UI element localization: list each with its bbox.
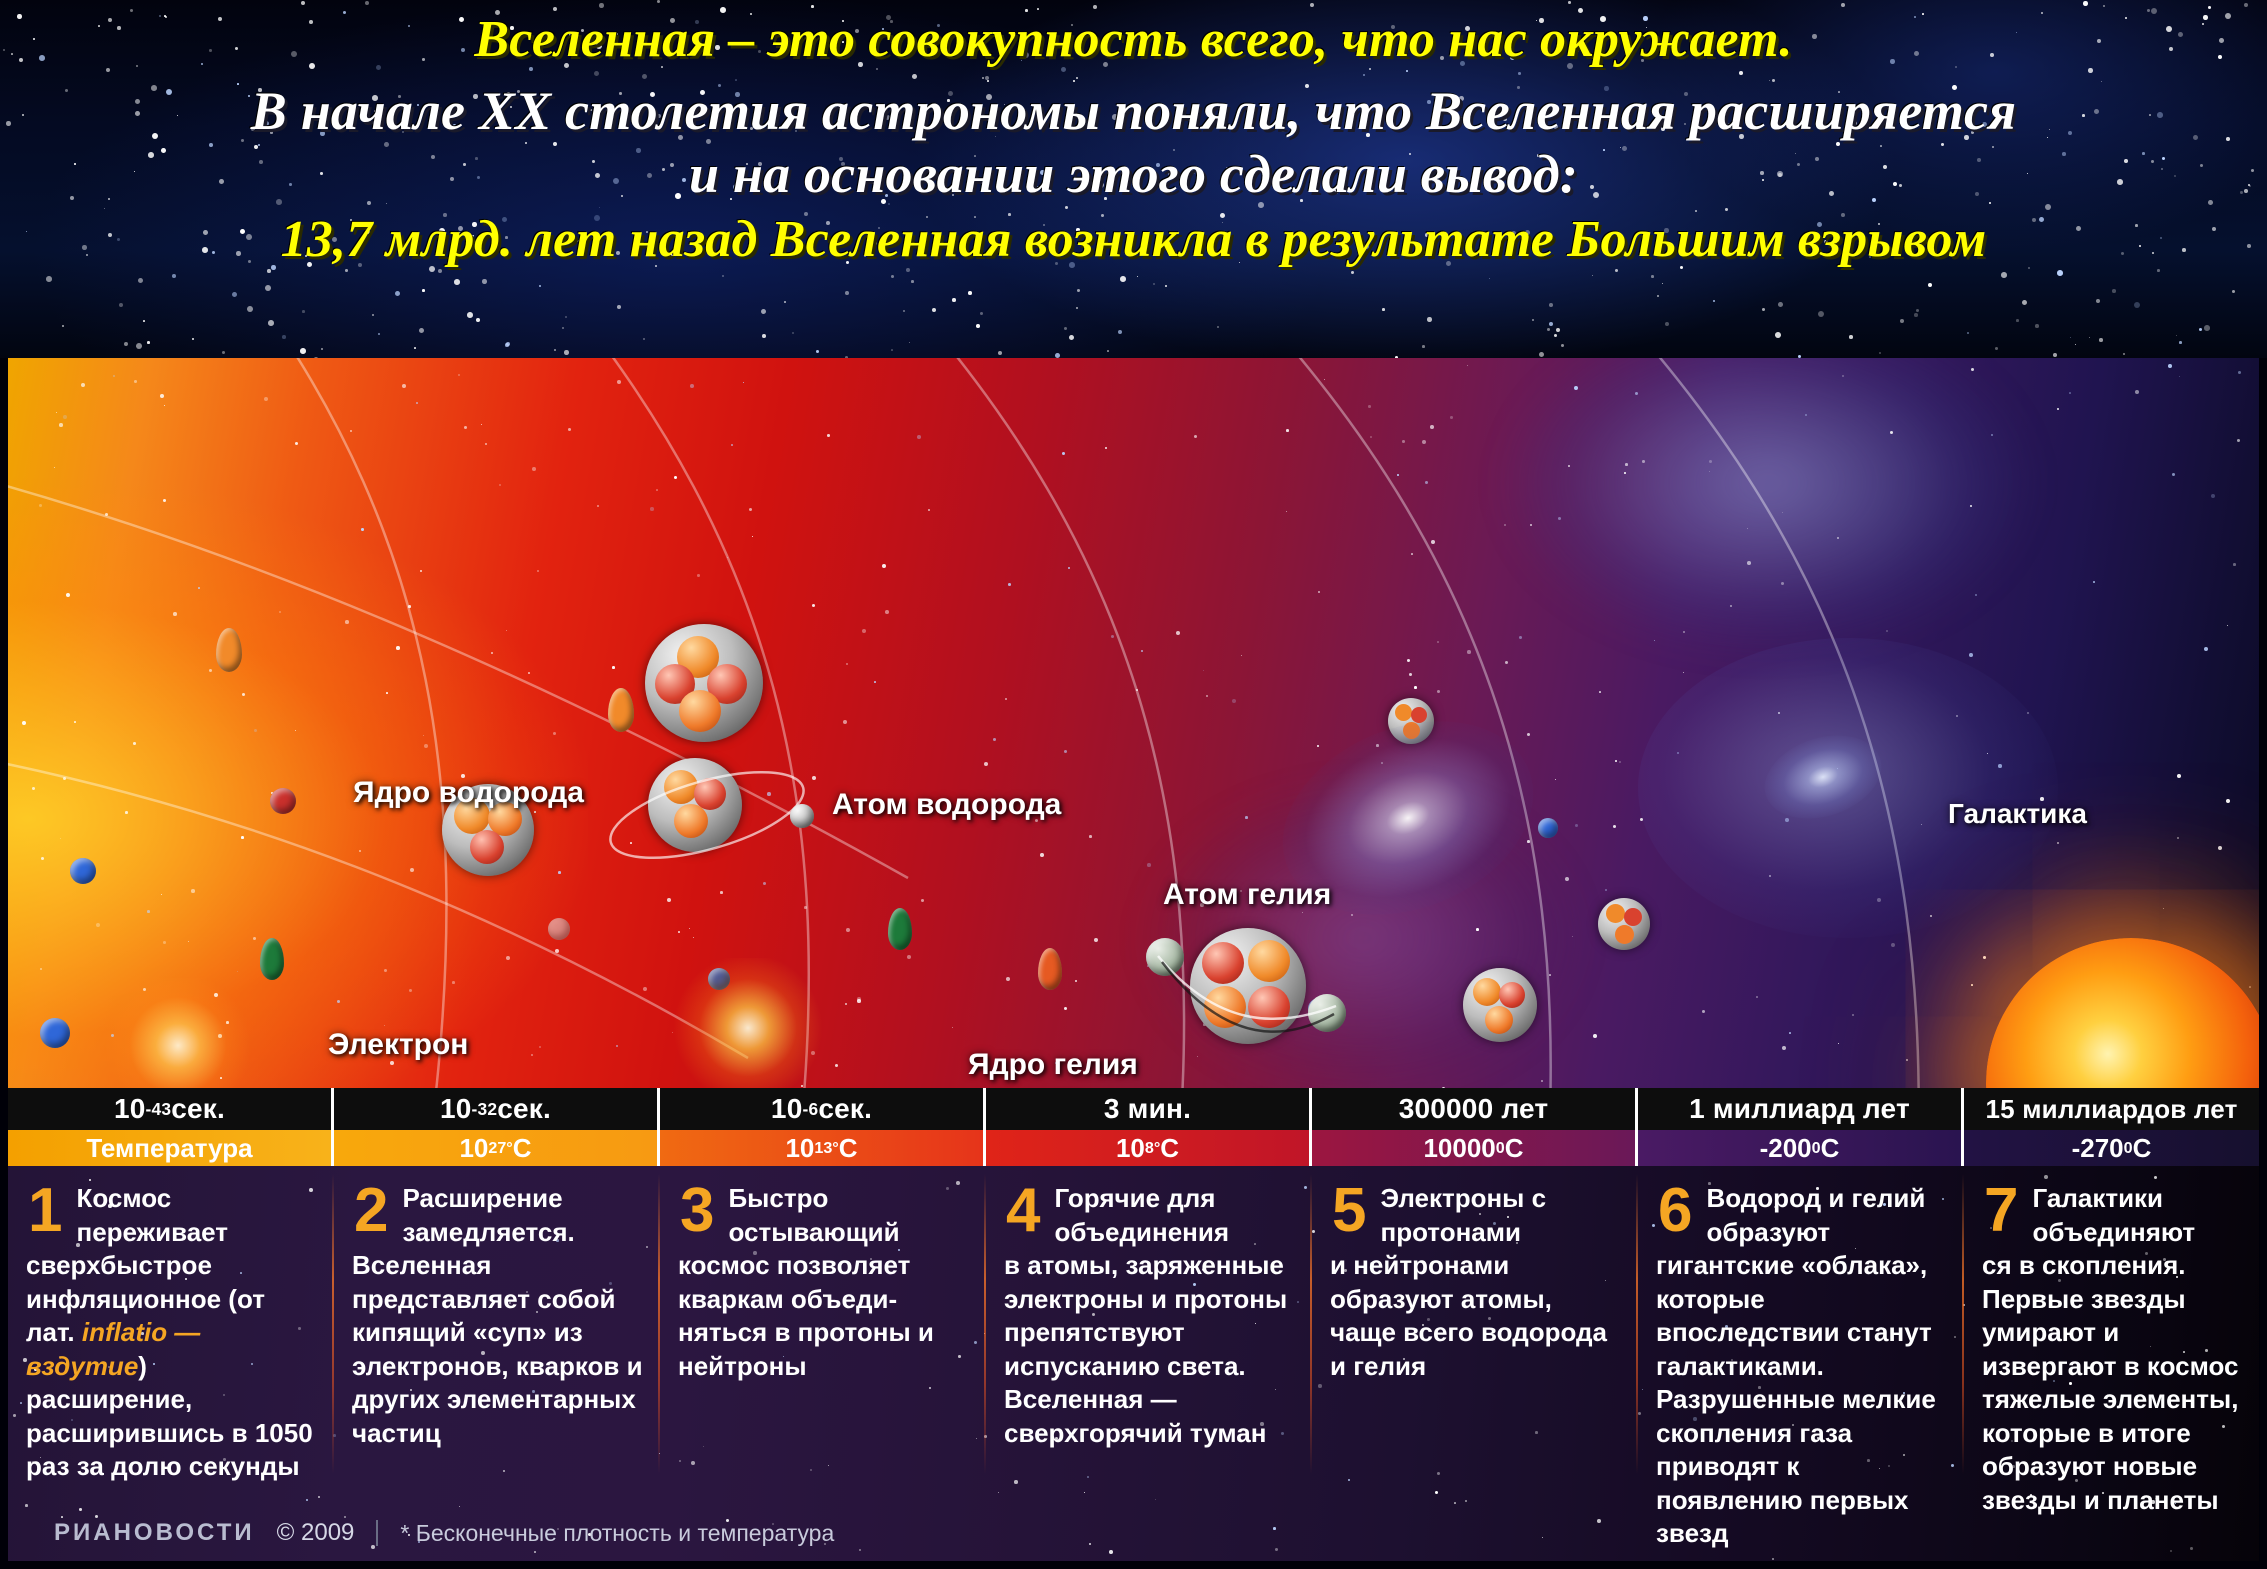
step-body: ся в скопления. Первые звезды умирают и …	[1982, 1250, 2238, 1515]
collision-burst	[668, 958, 828, 1088]
step-text: Водород и гелийобразуют гигантские «обла…	[1656, 1182, 1950, 1551]
temp-unit: C	[839, 1133, 858, 1164]
timeline-column-6: 1 миллиард лет -2000C	[1638, 1088, 1964, 1166]
time-unit: сек.	[497, 1093, 551, 1125]
nucleus-glyph	[1598, 898, 1650, 950]
temp-base: 10000	[1423, 1133, 1495, 1164]
ria-novosti-logo: РИАНОВОСТИ	[54, 1519, 255, 1547]
particle-electron	[40, 1018, 70, 1048]
header-line-4: 13,7 млрд. лет назад Вселенная возникла …	[0, 212, 2267, 267]
step-number: 5	[1332, 1184, 1366, 1239]
particle-electron	[548, 918, 570, 940]
step-text: Быстро остывающийкосмос позволяет кварка…	[678, 1182, 972, 1383]
timeline-column-2: 10-32сек. 1027°C	[334, 1088, 660, 1166]
header-line-1: Вселенная – это совокупность всего, что …	[0, 12, 2267, 67]
explanation-step-2: 2 Расширение замедляется.Вселенная предс…	[334, 1166, 660, 1506]
explanation-step-7: 7 Галактики объединяют­ся в скопления. П…	[1964, 1166, 2259, 1506]
timeline-time-5: 300000 лет	[1312, 1088, 1635, 1130]
step-body: образуют гигантские «облака», которые вп…	[1656, 1217, 1936, 1549]
galaxy-cluster-haze	[1638, 638, 2058, 938]
time-unit: сек.	[171, 1093, 225, 1125]
timeline-time-6: 1 миллиард лет	[1638, 1088, 1961, 1130]
step-lead: Галактики объединяют­	[2032, 1183, 2195, 1247]
temp-unit: C	[513, 1133, 532, 1164]
explanation-step-5: 5 Электроны с протонамии нейтронами обра…	[1312, 1166, 1638, 1506]
step-body: космос позволяет кваркам объеди­няться в…	[678, 1250, 934, 1381]
timeline-table: 10-43сек. Температура 10-32сек. 1027°C 1…	[8, 1088, 2259, 1166]
temp-unit: C	[1505, 1133, 1524, 1164]
particle-quark	[1038, 948, 1062, 990]
particle-quark	[216, 628, 242, 672]
footer-credit: РИАНОВОСТИ © 2009 * Бесконечные плотност…	[54, 1519, 834, 1547]
timeline-time-7: 15 миллиардов лет	[1964, 1088, 2259, 1130]
time-unit: сек.	[818, 1093, 872, 1125]
timeline-time-3: 10-6сек.	[660, 1088, 983, 1130]
timeline-temp-6: -2000C	[1638, 1130, 1961, 1166]
copyright-text: © 2009	[277, 1519, 355, 1547]
timeline-temp-3: 1013°C	[660, 1130, 983, 1166]
label-helium-nucleus: Ядро гелия	[968, 1048, 1138, 1082]
step-number: 4	[1006, 1184, 1040, 1239]
header-line-2: В начале XX столетия астрономы поняли, ч…	[0, 83, 2267, 140]
explanation-step-1: 1 Космос переживаетсверхбыстрое инфляцио…	[8, 1166, 334, 1506]
explanation-step-3: 3 Быстро остывающийкосмос позволяет квар…	[660, 1166, 986, 1506]
label-galaxy: Галактика	[1948, 798, 2087, 830]
step-text: Расширение замедляется.Вселенная предста…	[352, 1182, 646, 1450]
timeline-time-1: 10-43сек.	[8, 1088, 331, 1130]
temp-unit: C	[2133, 1133, 2152, 1164]
explanations-panel: 1 Космос переживаетсверхбыстрое инфляцио…	[8, 1166, 2259, 1561]
temp-unit: C	[1821, 1133, 1840, 1164]
temp-base: -200	[1760, 1133, 1812, 1164]
step-lead: Космос переживает	[76, 1183, 228, 1247]
collision-burst	[103, 978, 253, 1088]
step-text: Горячие для объединенияв атомы, заряжен­…	[1004, 1182, 1298, 1450]
step-lead: Горячие для объединения	[1054, 1183, 1229, 1247]
step-number: 7	[1984, 1184, 2018, 1239]
temp-base: 10	[1116, 1133, 1145, 1164]
step-number: 1	[28, 1184, 62, 1239]
helium-atom-orbit	[1128, 918, 1368, 1068]
nucleus-glyph	[1463, 968, 1537, 1042]
timeline-temp-2: 1027°C	[334, 1130, 657, 1166]
footnote-text: * Бесконечные плотность и температура	[400, 1520, 834, 1547]
step-text: Электроны с протонамии нейтронами образу…	[1330, 1182, 1624, 1383]
step-lead: Расширение замедляется.	[402, 1183, 574, 1247]
step-lead: Быстро остывающий	[728, 1183, 899, 1247]
timeline-temp-5: 100000C	[1312, 1130, 1635, 1166]
timeline-column-5: 300000 лет 100000C	[1312, 1088, 1638, 1166]
header-line-3: и на основании этого сделали вывод:	[0, 146, 2267, 203]
explanation-step-6: 6 Водород и гелийобразуют гигантские «об…	[1638, 1166, 1964, 1506]
header-starfield: Вселенная – это совокупность всего, что …	[0, 0, 2267, 358]
temp-unit: C	[1160, 1133, 1179, 1164]
step-number: 6	[1658, 1184, 1692, 1239]
timeline-column-4: 3 мин. 108°C	[986, 1088, 1312, 1166]
helium-nucleus-glyph-top	[645, 624, 763, 742]
timeline-temp-7: -2700C	[1964, 1130, 2259, 1166]
step-body: и нейтронами образуют атомы, чаще всего …	[1330, 1250, 1607, 1381]
particle-electron	[1538, 818, 1558, 838]
particle-electron	[70, 858, 96, 884]
hydrogen-atom-orbit	[602, 750, 812, 880]
timeline-temp-4: 108°C	[986, 1130, 1309, 1166]
timeline-time-4: 3 мин.	[986, 1088, 1309, 1130]
step-number: 2	[354, 1184, 388, 1239]
particle-quark	[608, 688, 634, 732]
step-number: 3	[680, 1184, 714, 1239]
hydrogen-atom-electron	[790, 804, 814, 828]
time-base: 10	[114, 1093, 146, 1125]
explanation-columns: 1 Космос переживаетсверхбыстрое инфляцио…	[8, 1166, 2259, 1506]
step-body: в атомы, заряжен­ные электроны и протоны…	[1004, 1250, 1287, 1448]
time-base: 10	[440, 1093, 472, 1125]
explanation-step-4: 4 Горячие для объединенияв атомы, заряже…	[986, 1166, 1312, 1506]
step-lead: Электроны с протонами	[1380, 1183, 1546, 1247]
step-body: Вселенная представляет собой кипящий «су…	[352, 1250, 643, 1448]
footer-divider	[376, 1520, 378, 1546]
universe-timeline-illustration: Ядро водорода Атом водорода Атом гелия Я…	[8, 358, 2259, 1088]
time-base: 10	[771, 1093, 803, 1125]
particle-quark	[888, 908, 912, 950]
step-text: Космос переживаетсверхбыстрое инфляционн…	[26, 1182, 320, 1484]
temp-base: 10	[785, 1133, 814, 1164]
timeline-time-2: 10-32сек.	[334, 1088, 657, 1130]
step-text: Галактики объединяют­ся в скопления. Пер…	[1982, 1182, 2245, 1517]
temp-base: -270	[2072, 1133, 2124, 1164]
label-hydrogen-nucleus: Ядро водорода	[353, 776, 584, 810]
label-hydrogen-atom: Атом водорода	[832, 788, 1061, 822]
step-lead: Водород и гелий	[1706, 1183, 1925, 1213]
timeline-column-3: 10-6сек. 1013°C	[660, 1088, 986, 1166]
label-electron: Электрон	[328, 1028, 468, 1062]
particle-electron	[270, 788, 296, 814]
header-text-block: Вселенная – это совокупность всего, что …	[0, 0, 2267, 267]
infographic-poster: Вселенная – это совокупность всего, что …	[0, 0, 2267, 1569]
temp-base: 10	[459, 1133, 488, 1164]
timeline-column-7: 15 миллиардов лет -2700C	[1964, 1088, 2259, 1166]
particle-quark	[260, 938, 284, 980]
label-helium-atom: Атом гелия	[1163, 878, 1331, 912]
timeline-column-1: 10-43сек. Температура	[8, 1088, 334, 1166]
timeline-temp-label: Температура	[8, 1130, 331, 1166]
